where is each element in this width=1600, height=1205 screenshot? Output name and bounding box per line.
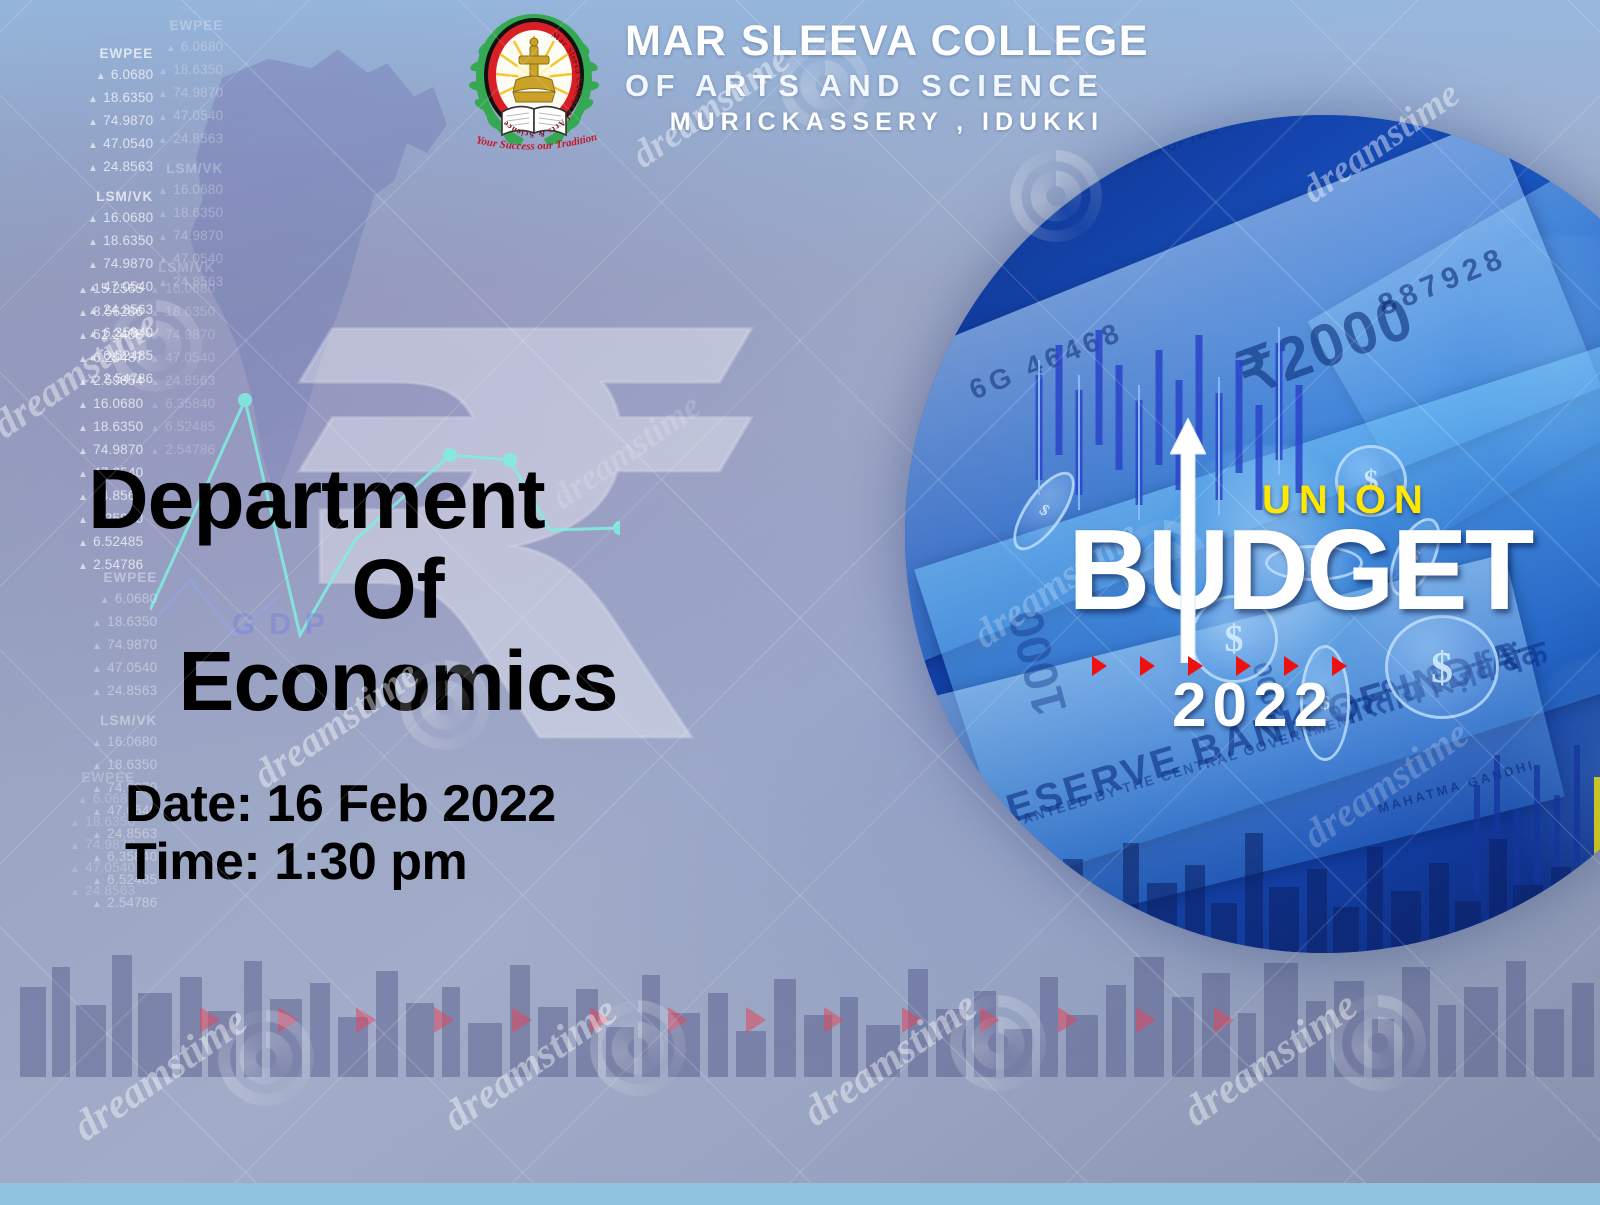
triangle-icon <box>824 1007 844 1033</box>
ticker-row: ▲24.8563 <box>150 370 215 393</box>
up-caret-icon: ▲ <box>70 887 80 898</box>
triangle-icon <box>278 1007 298 1033</box>
ticker-symbol: LSM/VK <box>150 257 215 278</box>
ticker-row: ▲16.0680 <box>158 179 223 202</box>
triangle-icon <box>356 1007 376 1033</box>
circle-skyline-graphic <box>905 803 1600 953</box>
triangle-icon <box>1092 656 1107 676</box>
union-label: UNION <box>1262 478 1431 523</box>
ticker-row: ▲18.6350 <box>150 301 215 324</box>
up-caret-icon: ▲ <box>150 331 160 342</box>
headline-line-2: Of <box>88 543 708 635</box>
ticker-row: ▲16.0680 <box>88 207 153 230</box>
event-date: Date: 16 Feb 2022 <box>125 775 556 833</box>
triangle-icon <box>1332 656 1347 676</box>
triangle-icon <box>746 1007 766 1033</box>
ticker-row: ▲18.6350 <box>78 416 143 439</box>
triangle-icon <box>200 1007 220 1033</box>
college-name: MAR SLEEVA COLLEGE <box>625 16 1149 66</box>
triangle-icon <box>902 1007 922 1033</box>
college-subtitle: OF ARTS AND SCIENCE <box>625 66 1149 106</box>
triangle-icon <box>434 1007 454 1033</box>
up-caret-icon: ▲ <box>78 354 88 365</box>
up-caret-icon: ▲ <box>78 377 88 388</box>
ticker-row: ▲6.25487 <box>78 347 143 370</box>
up-caret-icon: ▲ <box>150 377 160 388</box>
ticker-row: ▲47.0540 <box>150 347 215 370</box>
ticker-symbol: LSM/VK <box>158 158 223 179</box>
ticker-row: ▲74.9870 <box>158 225 223 248</box>
triangle-icon <box>512 1007 532 1033</box>
bottom-triangle-strip <box>200 1007 1234 1033</box>
ticker-row: ▲16.0680 <box>78 393 143 416</box>
poster-header: Mar Sleeva College of Arts & Science You… <box>0 0 1600 160</box>
triangle-icon <box>668 1007 688 1033</box>
up-caret-icon: ▲ <box>78 285 88 296</box>
up-caret-icon: ▲ <box>78 423 88 434</box>
up-caret-icon: ▲ <box>88 214 98 225</box>
up-caret-icon: ▲ <box>78 446 88 457</box>
triangle-icon <box>1214 1007 1234 1033</box>
up-caret-icon: ▲ <box>78 538 88 549</box>
triangle-icon <box>1058 1007 1078 1033</box>
up-caret-icon: ▲ <box>78 795 88 806</box>
ticker-row: ▲74.9870 <box>88 253 153 276</box>
headline-line-1: Department <box>88 455 708 543</box>
up-caret-icon: ▲ <box>150 423 160 434</box>
triangle-icon <box>1140 656 1155 676</box>
ticker-row: ▲18.6350 <box>158 202 223 225</box>
up-caret-icon: ▲ <box>158 209 168 220</box>
up-caret-icon: ▲ <box>70 841 80 852</box>
triangle-icon <box>980 1007 1000 1033</box>
event-headline: Department Of Economics <box>88 455 708 727</box>
ticker-row: ▲6.35840 <box>150 393 215 416</box>
ticker-symbol: LSM/VK <box>88 186 153 207</box>
college-title-block: MAR SLEEVA COLLEGE OF ARTS AND SCIENCE M… <box>625 16 1149 138</box>
up-caret-icon: ▲ <box>70 818 80 829</box>
union-budget-logo: UNION BUDGET 2022 <box>1062 418 1442 718</box>
up-caret-icon: ▲ <box>78 561 88 572</box>
triangle-icon <box>590 1007 610 1033</box>
up-caret-icon: ▲ <box>70 864 80 875</box>
up-caret-icon: ▲ <box>88 260 98 271</box>
up-caret-icon: ▲ <box>78 515 88 526</box>
event-poster: ₹ EWPEE ▲6.0680 ▲18.6350 ▲74.9870 ▲47.05… <box>0 0 1600 1205</box>
budget-label: BUDGET <box>1068 514 1531 628</box>
ticker-row: ▲74.9870 <box>150 324 215 347</box>
up-caret-icon: ▲ <box>78 492 88 503</box>
college-logo: Mar Sleeva College of Arts & Science You… <box>458 8 610 160</box>
up-caret-icon: ▲ <box>158 186 168 197</box>
up-caret-icon: ▲ <box>150 285 160 296</box>
college-location: MURICKASSERY , IDUKKI <box>625 106 1149 138</box>
up-caret-icon: ▲ <box>150 400 160 411</box>
event-details: Date: 16 Feb 2022 Time: 1:30 pm <box>125 775 556 891</box>
ticker-row: ▲15.2565 <box>78 278 143 301</box>
ticker-row: ▲16.0680 <box>150 278 215 301</box>
ticker-row: ▲6.52485 <box>150 416 215 439</box>
up-caret-icon: ▲ <box>150 308 160 319</box>
up-caret-icon: ▲ <box>88 237 98 248</box>
ticker-row: ▲8.56286 <box>78 301 143 324</box>
budget-year: 2022 <box>1172 670 1334 741</box>
up-caret-icon: ▲ <box>92 738 102 749</box>
ticker-row: ▲52.2458 <box>78 324 143 347</box>
event-time: Time: 1:30 pm <box>125 833 556 891</box>
up-caret-icon: ▲ <box>78 308 88 319</box>
up-caret-icon: ▲ <box>78 469 88 480</box>
up-caret-icon: ▲ <box>150 354 160 365</box>
bottom-accent-bar <box>0 1183 1600 1205</box>
up-caret-icon: ▲ <box>78 331 88 342</box>
up-arrow-icon <box>1170 418 1206 663</box>
ticker-row: ▲16.0680 <box>92 731 157 754</box>
ticker-row: ▲18.6350 <box>88 230 153 253</box>
ticker-row: ▲2.59854 <box>78 370 143 393</box>
triangle-icon <box>1136 1007 1156 1033</box>
up-caret-icon: ▲ <box>158 232 168 243</box>
headline-line-3: Economics <box>88 635 708 727</box>
stock-ticker-column-4: LSM/VK ▲16.0680 ▲18.6350 ▲74.9870 ▲47.05… <box>150 250 215 462</box>
up-caret-icon: ▲ <box>88 163 98 174</box>
up-caret-icon: ▲ <box>78 400 88 411</box>
